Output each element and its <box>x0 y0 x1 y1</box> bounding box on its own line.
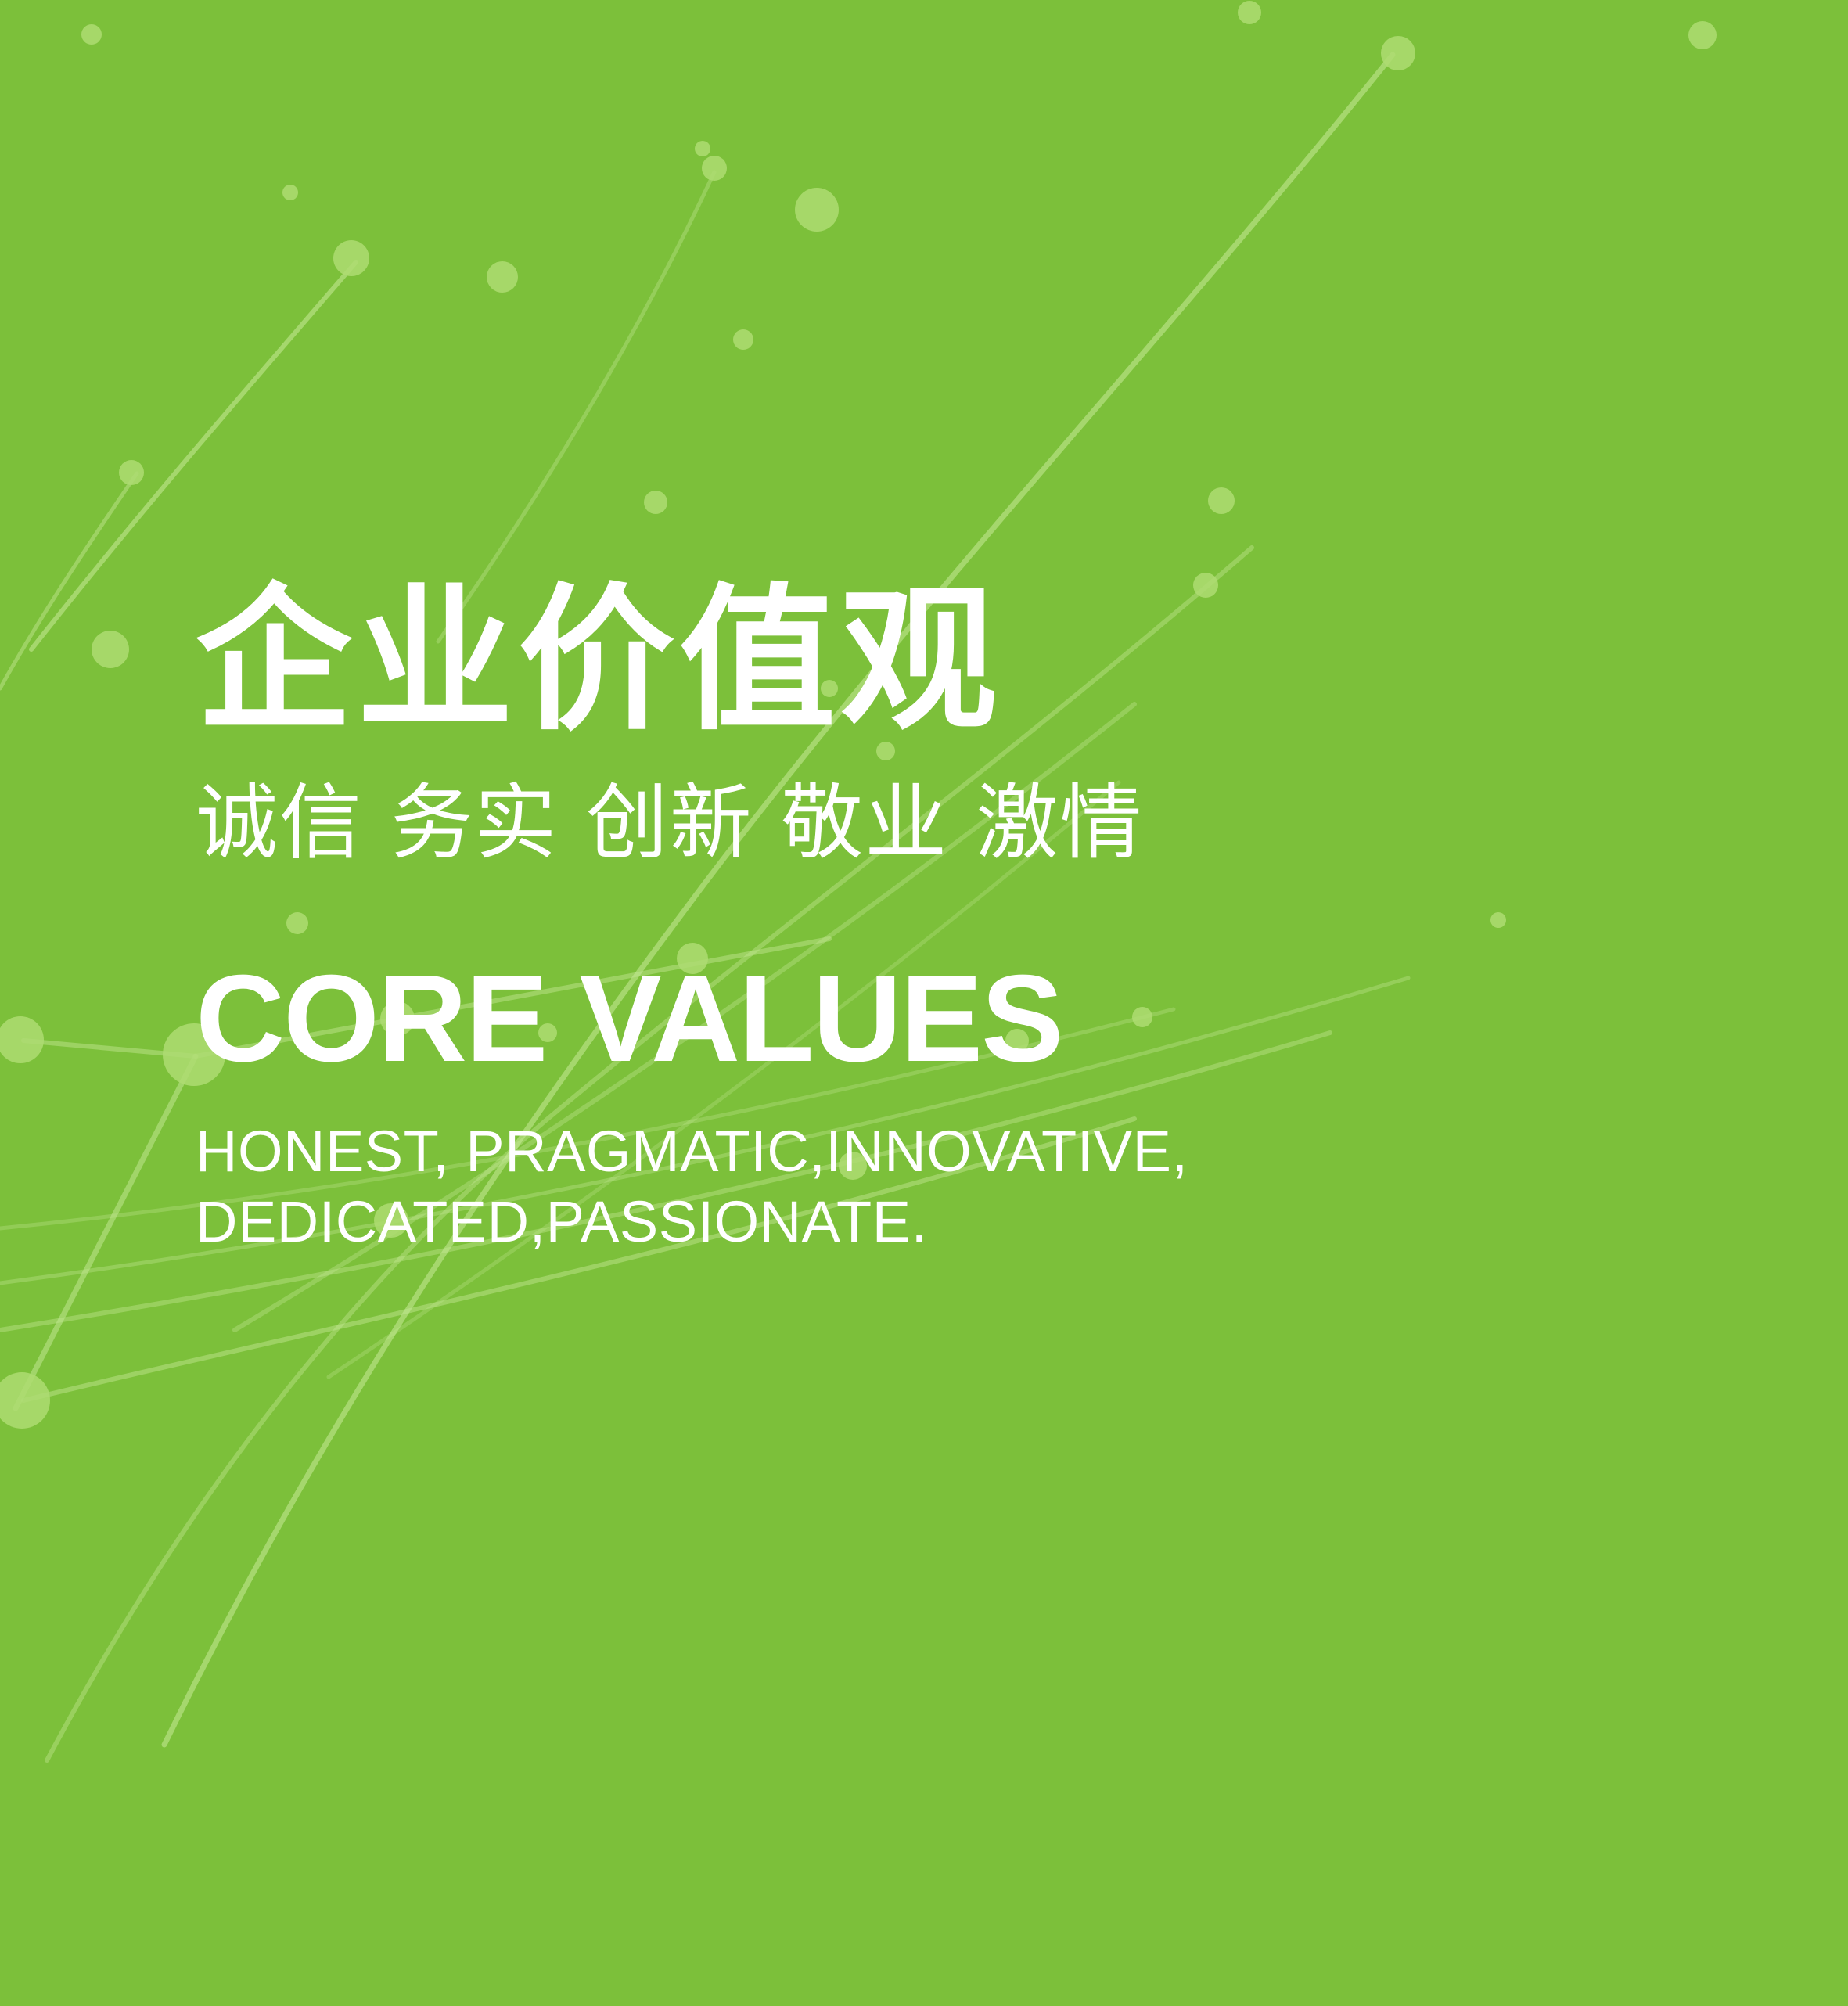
network-node <box>644 491 667 514</box>
network-node <box>487 261 518 293</box>
poster-text-block: 企业价值观 诚信 务实 创新 敬业 激情 CORE VALUES HONEST,… <box>196 583 1682 1258</box>
network-node <box>795 188 839 232</box>
network-node <box>1238 1 1261 24</box>
network-node <box>702 156 727 181</box>
network-node <box>92 631 129 668</box>
page-title-chinese: 企业价值观 <box>196 583 1682 739</box>
network-node <box>333 240 369 276</box>
network-node <box>0 1372 50 1429</box>
page-title-english: CORE VALUES <box>196 957 1682 1080</box>
network-node <box>81 24 102 45</box>
values-english-line-2: DEDICATED,PASSIONATE. <box>196 1187 1682 1257</box>
network-line-fan-2 <box>23 1041 196 1056</box>
values-list-english: HONEST, PRAGMATIC,INNOVATIVE, DEDICATED,… <box>196 1116 1682 1258</box>
network-node <box>695 141 710 156</box>
network-node <box>282 185 298 200</box>
network-node <box>1688 21 1717 49</box>
core-values-poster: 企业价值观 诚信 务实 创新 敬业 激情 CORE VALUES HONEST,… <box>0 0 1848 2006</box>
network-curve-upper-left-2 <box>0 473 137 688</box>
network-node <box>733 329 753 350</box>
network-line-fan-3 <box>16 1056 196 1408</box>
values-list-chinese: 诚信 务实 创新 敬业 激情 <box>196 782 1682 865</box>
network-node <box>1381 36 1415 70</box>
network-node <box>1208 487 1235 514</box>
values-english-line-1: HONEST, PRAGMATIC,INNOVATIVE, <box>196 1116 1682 1187</box>
network-node <box>0 1016 44 1063</box>
network-node <box>119 460 144 485</box>
